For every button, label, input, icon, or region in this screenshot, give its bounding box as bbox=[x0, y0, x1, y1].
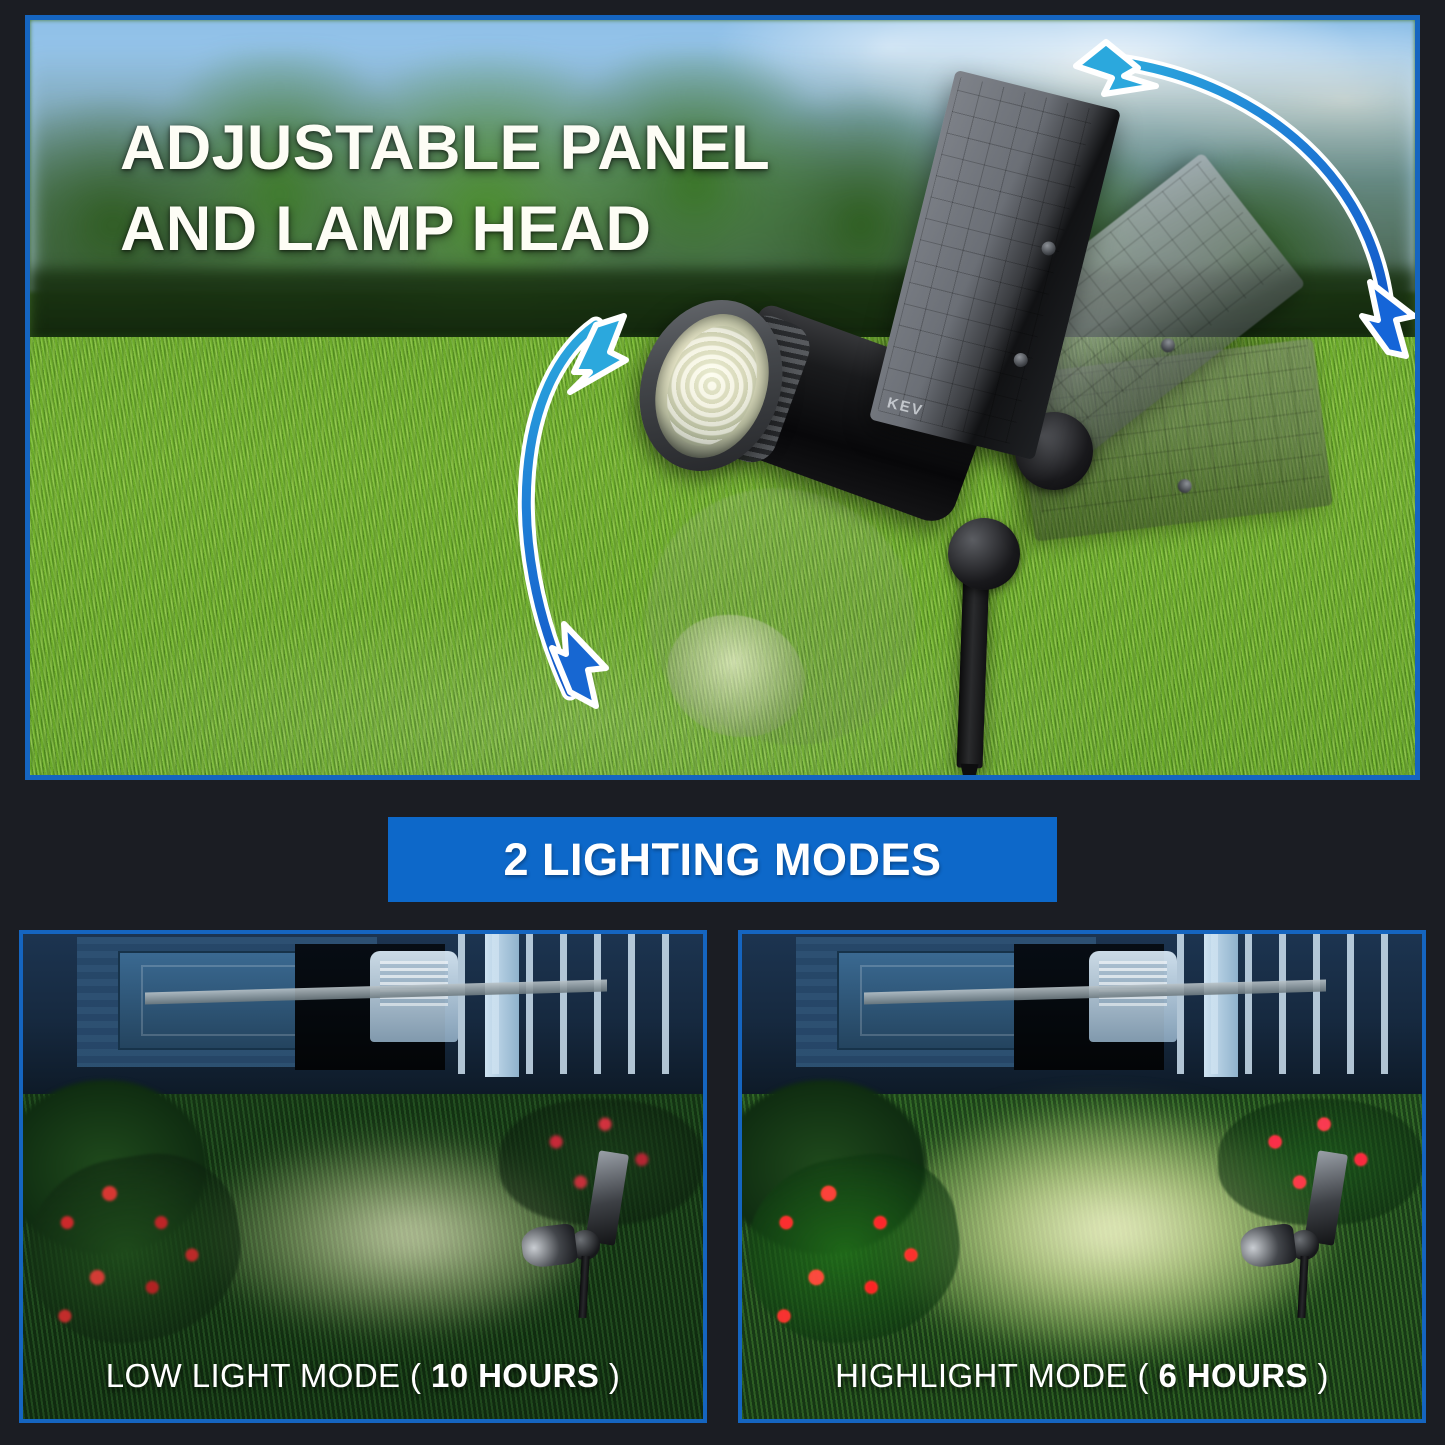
caption-prefix-high: HIGHLIGHT MODE ( bbox=[835, 1357, 1158, 1394]
low-light-mode-caption: LOW LIGHT MODE ( 10 HOURS ) bbox=[23, 1357, 703, 1395]
spotlight-fixture-left bbox=[518, 1152, 628, 1312]
mini-lamp-head-right bbox=[1239, 1223, 1297, 1269]
caption-prefix-low: LOW LIGHT MODE ( bbox=[106, 1357, 431, 1394]
product-infographic: KEV bbox=[0, 0, 1445, 1445]
banner-label: 2 LIGHTING MODES bbox=[503, 834, 941, 886]
solar-panel-rotation-arrow bbox=[1076, 42, 1414, 356]
porch-railing-left bbox=[458, 934, 689, 1074]
caption-suffix-high: ) bbox=[1308, 1357, 1329, 1394]
mini-lamp-head-left bbox=[520, 1223, 578, 1269]
caption-suffix-low: ) bbox=[599, 1357, 620, 1394]
low-light-mode-photo: LOW LIGHT MODE ( 10 HOURS ) bbox=[19, 930, 707, 1423]
caption-value-low: 10 HOURS bbox=[431, 1357, 599, 1394]
caption-value-high: 6 HOURS bbox=[1158, 1357, 1308, 1394]
highlight-mode-caption: HIGHLIGHT MODE ( 6 HOURS ) bbox=[742, 1357, 1422, 1395]
lamp-head-rotation-arrow bbox=[526, 316, 626, 706]
hero-product-photo: KEV bbox=[25, 15, 1420, 780]
page-title: ADJUSTABLE PANEL AND LAMP HEAD bbox=[120, 108, 880, 269]
mini-stake-right bbox=[1298, 1256, 1309, 1318]
lighting-modes-banner: 2 LIGHTING MODES bbox=[388, 817, 1057, 902]
mini-stake-left bbox=[579, 1256, 590, 1318]
porch-railing-right bbox=[1177, 934, 1408, 1074]
spotlight-fixture-right bbox=[1237, 1152, 1347, 1312]
highlight-mode-photo: HIGHLIGHT MODE ( 6 HOURS ) bbox=[738, 930, 1426, 1423]
